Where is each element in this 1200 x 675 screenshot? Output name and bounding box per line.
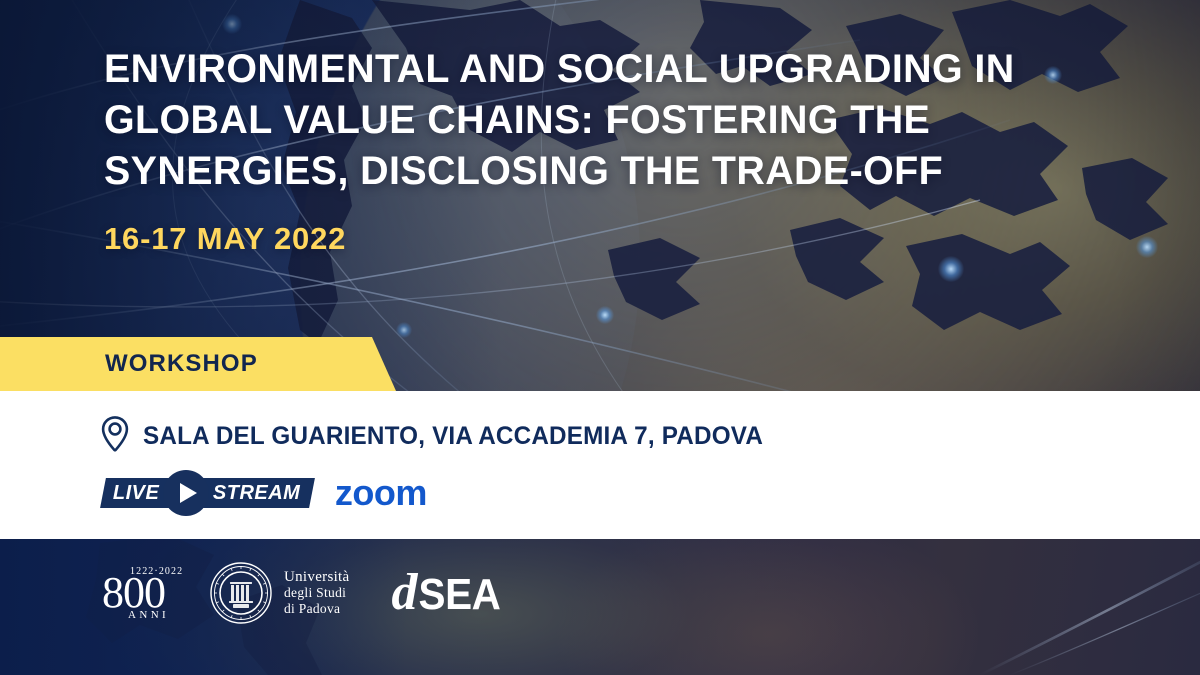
logo-row: 1222·2022 800 ANNI: [100, 557, 504, 629]
venue-row: SALA DEL GUARIENTO, VIA ACCADEMIA 7, PAD…: [100, 415, 782, 458]
university-line-1: Università: [284, 569, 349, 585]
location-pin-icon: [100, 415, 130, 458]
event-type-label: WORKSHOP: [105, 350, 258, 378]
zoom-logo: zoom: [335, 475, 427, 511]
play-button-icon[interactable]: [163, 470, 209, 516]
page-title: ENVIRONMENTAL AND SOCIAL UPGRADING IN GL…: [104, 44, 1050, 197]
headline-block: ENVIRONMENTAL AND SOCIAL UPGRADING IN GL…: [104, 44, 1064, 257]
event-date: 16-17 MAY 2022: [104, 221, 1064, 257]
stream-word: STREAM: [213, 482, 300, 505]
university-line-3: di Padova: [284, 601, 349, 617]
live-stream-badge: LIVE STREAM: [103, 476, 313, 510]
university-seal-icon: [210, 562, 272, 624]
university-line-2: degli Studi: [284, 585, 349, 601]
dsea-initial: d: [391, 567, 415, 619]
venue-address: SALA DEL GUARIENTO, VIA ACCADEMIA 7, PAD…: [143, 422, 763, 451]
logo-strip: 1222·2022 800 ANNI: [0, 539, 1200, 675]
university-wordmark: Università degli Studi di Padova: [284, 569, 349, 617]
info-panel: SALA DEL GUARIENTO, VIA ACCADEMIA 7, PAD…: [0, 391, 1200, 539]
live-word: LIVE: [113, 482, 159, 505]
event-type-ribbon: WORKSHOP: [0, 337, 396, 391]
dsea-logo: d SEA: [391, 567, 504, 619]
dsea-acronym: SEA: [419, 573, 501, 617]
event-poster: ENVIRONMENTAL AND SOCIAL UPGRADING IN GL…: [0, 0, 1200, 675]
anniversary-word: ANNI: [128, 609, 169, 621]
anniversary-logo: 1222·2022 800 ANNI: [100, 562, 184, 624]
stream-row: LIVE STREAM zoom: [103, 475, 427, 511]
